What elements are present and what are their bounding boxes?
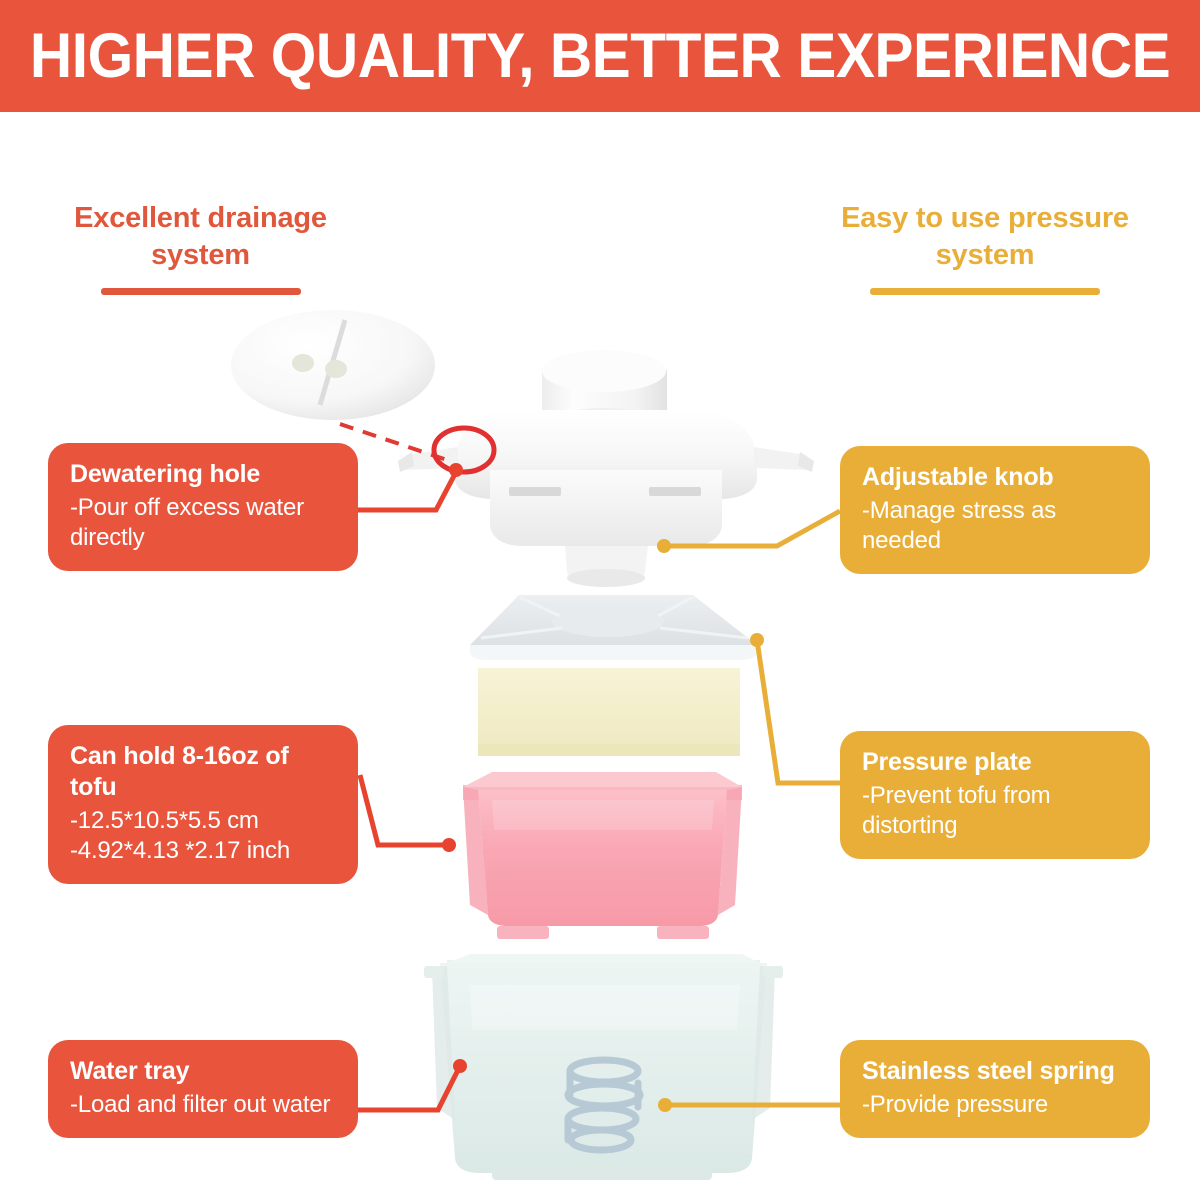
callout-body: -Load and filter out water — [70, 1090, 336, 1120]
dewatering-hole-closeup — [231, 310, 435, 420]
callout-adjustable-knob[interactable]: Adjustable knob -Manage stress as needed — [840, 446, 1150, 574]
callout-title: Water tray — [70, 1056, 336, 1087]
callout-title: Pressure plate — [862, 747, 1128, 778]
section-heading-left-text: Excellent drainage system — [48, 200, 353, 274]
callout-body: -Pour off excess water directly — [70, 493, 336, 553]
section-heading-right-text: Easy to use pressure system — [820, 200, 1150, 274]
tofu-block — [478, 668, 740, 756]
callout-title: Can hold 8-16oz of tofu — [70, 741, 336, 803]
section-heading-left-rule — [101, 288, 301, 295]
callout-dewatering-hole[interactable]: Dewatering hole -Pour off excess water d… — [48, 443, 358, 571]
section-heading-right-rule — [870, 288, 1100, 295]
callout-title: Stainless steel spring — [862, 1056, 1128, 1087]
callout-water-tray[interactable]: Water tray -Load and filter out water — [48, 1040, 358, 1138]
callout-stainless-spring[interactable]: Stainless steel spring -Provide pressure — [840, 1040, 1150, 1138]
callout-pressure-plate[interactable]: Pressure plate -Prevent tofu from distor… — [840, 731, 1150, 859]
product-illustration — [0, 0, 1200, 1200]
callout-body: -Provide pressure — [862, 1090, 1128, 1120]
section-heading-right: Easy to use pressure system — [820, 200, 1150, 295]
section-heading-left: Excellent drainage system — [48, 200, 353, 295]
callout-body: -Prevent tofu from distorting — [862, 781, 1128, 841]
translucent-pressure-plate — [470, 595, 757, 660]
white-lid-with-knob — [398, 350, 814, 587]
callout-capacity[interactable]: Can hold 8-16oz of tofu -12.5*10.5*5.5 c… — [48, 725, 358, 884]
callout-title: Adjustable knob — [862, 462, 1128, 493]
infographic-page: HIGHER QUALITY, BETTER EXPERIENCE — [0, 0, 1200, 1200]
callout-body: -12.5*10.5*5.5 cm -4.92*4.13 *2.17 inch — [70, 806, 336, 866]
callout-body: -Manage stress as needed — [862, 496, 1128, 556]
pink-tofu-basket — [463, 772, 742, 939]
callout-title: Dewatering hole — [70, 459, 336, 490]
mint-water-tray — [424, 954, 783, 1180]
